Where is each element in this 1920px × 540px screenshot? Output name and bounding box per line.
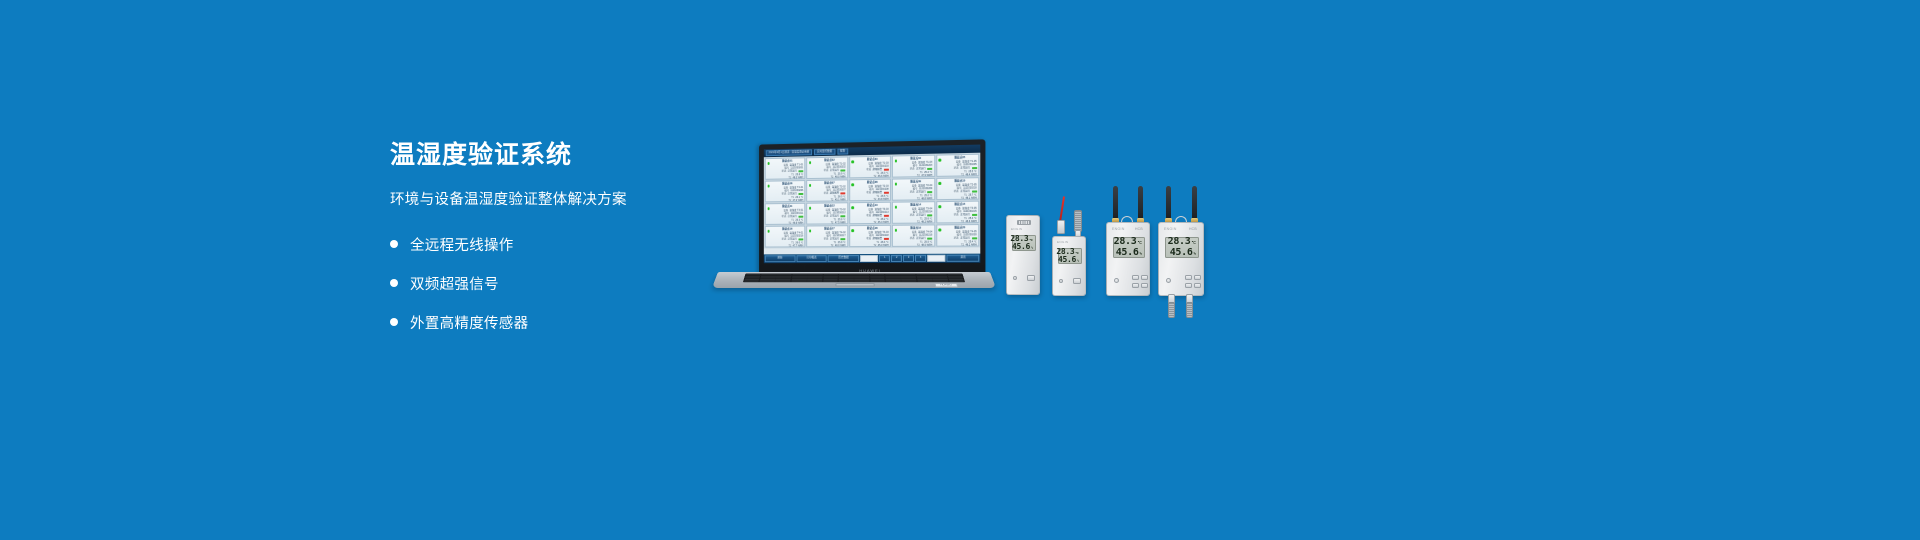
monitor-card-field-label: 状态: [782, 170, 787, 173]
status-dot-icon: [938, 182, 941, 185]
laptop-keyboard[interactable]: [743, 274, 965, 283]
monitor-card[interactable]: 验证点15设备温湿度 T3-05编号1121030215状态正常运行T125.3…: [936, 201, 979, 224]
monitor-card-field-label: 状态: [782, 238, 787, 241]
monitor-card[interactable]: 验证点20设备温湿度 T4-05编号1121030220状态正常运行T125.4…: [936, 224, 979, 247]
monitor-card-field-label: 状态: [782, 193, 787, 196]
device-group-external-probe: ENGIN 28.3 ℃ 45.6 %: [1052, 196, 1098, 296]
key[interactable]: [854, 281, 869, 282]
product-banner: 温湿度验证系统 环境与设备温湿度验证整体解决方案 全远程无线操作 双频超强信号 …: [0, 0, 1920, 540]
key[interactable]: [744, 281, 759, 282]
monitor-card[interactable]: 验证点06设备温湿度 T2-01编号1121030206状态正常运行T126.1…: [765, 180, 806, 202]
device-group-wireless-probe: ENGIN HCB 28.3 ℃ 45.6 %: [1158, 186, 1218, 318]
page-title: 温湿度验证系统: [390, 140, 720, 170]
device-lcd-display: 28.3 ℃ 45.6 %: [1012, 235, 1036, 251]
device-lcd-display: 28.3 ℃ 45.6 %: [1165, 237, 1199, 258]
bullet-dot-icon: [390, 240, 398, 248]
key[interactable]: [886, 281, 901, 282]
device-lcd-display: 28.3 ℃ 45.6 %: [1058, 248, 1082, 264]
monitor-card-field-label: 状态: [954, 237, 959, 240]
monitor-card[interactable]: 验证点18设备温湿度 T4-03编号1121030218状态超限报警T128.4…: [849, 225, 891, 247]
monitor-card-field-label: 状态: [954, 167, 959, 170]
toolbar-button[interactable]: 历史数据: [828, 255, 859, 262]
feature-item-1: 全远程无线操作: [390, 231, 720, 257]
device-brand-label: ENGIN: [1112, 228, 1125, 231]
lcd-temperature-value: 28.3: [1168, 237, 1191, 248]
device-button-up[interactable]: [1185, 275, 1192, 280]
probe-cable: [1059, 196, 1065, 222]
device-model-label: HCB: [1135, 228, 1143, 231]
laptop-screen: 2021年9月1日通道 - 温湿度验证系统 实时监控数据 报警 验证点01设备温…: [764, 145, 980, 264]
toolbar-button[interactable]: 退出: [947, 255, 979, 262]
feature-item-2: 双频超强信号: [390, 270, 720, 296]
toolbar-button[interactable]: 4: [915, 255, 926, 262]
device-power-button[interactable]: [1059, 279, 1063, 283]
device-button-enter[interactable]: [1141, 283, 1148, 288]
monitor-card[interactable]: 验证点16设备温湿度 T4-01编号1121030216状态正常运行T126.0…: [765, 226, 806, 248]
bullet-dot-icon: [390, 318, 398, 326]
key[interactable]: [902, 281, 917, 282]
lcd-temperature-value: 28.3: [1114, 237, 1137, 248]
device-button-up[interactable]: [1132, 275, 1139, 280]
monitor-card-field-label: 状态: [954, 190, 959, 193]
laptop-lid: 2021年9月1日通道 - 温湿度验证系统 实时监控数据 报警 验证点01设备温…: [759, 139, 985, 274]
monitor-card-field-label: 状态: [910, 214, 915, 217]
monitor-card[interactable]: 验证点13设备温湿度 T3-03编号1121030213状态超限报警T128.2…: [849, 202, 891, 224]
status-dot-icon: [895, 229, 898, 232]
key[interactable]: [933, 281, 948, 282]
status-dot-icon: [767, 207, 769, 210]
feature-label: 外置高精度传感器: [410, 312, 528, 333]
toolbar-button[interactable]: 2: [891, 255, 902, 262]
antenna-left-icon: [1113, 186, 1118, 220]
page-subtitle: 环境与设备温湿度验证整体解决方案: [390, 188, 720, 209]
probe-connector: [1057, 220, 1065, 234]
monitor-card[interactable]: 验证点04设备温湿度 T1-04编号1121030204状态正常运行T125.4…: [892, 155, 935, 178]
feature-label: 双频超强信号: [410, 273, 499, 294]
topbar-tab-0[interactable]: 2021年9月1日通道 - 温湿度验证系统: [766, 149, 812, 156]
monitor-card[interactable]: 验证点08设备温湿度 T2-03编号1121030208状态超限报警T128.6…: [849, 179, 891, 202]
topbar-tab-1[interactable]: 实时监控数据: [814, 149, 835, 155]
lcd-humidity-value: 45.6: [1058, 256, 1076, 264]
laptop-brand-badge: HUAWEI: [934, 283, 958, 287]
hero-text-block: 温湿度验证系统 环境与设备温湿度验证整体解决方案 全远程无线操作 双频超强信号 …: [390, 140, 720, 348]
status-dot-icon: [895, 206, 898, 209]
monitor-card[interactable]: 验证点07设备温湿度 T2-02编号1121030207状态超限报警T128.0…: [807, 179, 848, 201]
monitor-card[interactable]: 验证点01设备温湿度 T1-01编号1121030201状态正常运行T125.8…: [765, 157, 806, 179]
device-data-logger-basic: ENGIN 28.3 ℃ 45.6 %: [1006, 215, 1040, 295]
lcd-humidity-unit: %: [1140, 252, 1142, 256]
keyboard-row: [744, 281, 965, 282]
monitor-card[interactable]: 验证点17设备温湿度 T4-02编号1121030217状态正常运行T125.8…: [807, 225, 848, 247]
status-dot-icon: [809, 229, 812, 232]
status-dot-icon: [851, 183, 854, 186]
laptop-base: HUAWEI: [718, 272, 990, 297]
monitor-card[interactable]: 验证点10设备温湿度 T2-05编号1121030210状态正常运行T125.7…: [936, 177, 979, 200]
device-brand-label: ENGIN: [1164, 228, 1177, 231]
device-button-set[interactable]: [1132, 283, 1139, 288]
bullet-dot-icon: [390, 279, 398, 287]
laptop-deck: HUAWEI: [712, 272, 996, 288]
lcd-humidity-value: 45.6: [1012, 243, 1030, 251]
device-power-button[interactable]: [1114, 278, 1119, 283]
monitor-card-field-label: 状态: [824, 169, 829, 172]
monitor-card[interactable]: 验证点14设备温湿度 T3-04编号1121030214状态正常运行T125.6…: [892, 201, 935, 224]
status-dot-icon: [851, 229, 854, 232]
status-dot-icon: [938, 228, 941, 231]
monitor-card-field-label: 状态: [954, 213, 959, 216]
lcd-humidity-unit: %: [1194, 252, 1196, 256]
key[interactable]: [823, 281, 838, 282]
monitor-card-grid: 验证点01设备温湿度 T1-01编号1121030201状态正常运行T125.8…: [764, 153, 980, 249]
feature-list: 全远程无线操作 双频超强信号 外置高精度传感器: [390, 231, 720, 335]
toolbar-button[interactable]: 刷新: [765, 255, 795, 262]
toolbar-button[interactable]: 3: [903, 255, 914, 262]
key[interactable]: [791, 281, 806, 282]
lcd-temperature-unit: ℃: [1138, 241, 1143, 245]
sensor-vent-icon: [1017, 220, 1031, 225]
lcd-humidity-line: 45.6 %: [1116, 248, 1142, 259]
status-dot-icon: [767, 185, 769, 188]
toolbar-button[interactable]: 1: [879, 255, 890, 262]
status-dot-icon: [809, 184, 812, 187]
monitor-card-field-label: 状态: [824, 215, 829, 218]
lcd-humidity-line: 45.6 %: [1061, 256, 1079, 264]
probe-sensor-tip-left: [1168, 302, 1175, 318]
antenna-right-icon: [1192, 186, 1197, 220]
device-power-button[interactable]: [1166, 278, 1171, 283]
device-button-down[interactable]: [1141, 275, 1148, 280]
monitor-card[interactable]: 验证点02设备温湿度 T1-02编号1121030202状态正常运行T125.9…: [807, 156, 848, 179]
status-dot-icon: [767, 230, 769, 233]
monitor-card-field-label: 状态: [824, 238, 829, 241]
key[interactable]: [759, 281, 774, 282]
device-power-button[interactable]: [1013, 276, 1017, 280]
toolbar-spacer: [860, 255, 878, 262]
lcd-humidity-value: 45.6: [1116, 248, 1139, 259]
monitor-card[interactable]: 验证点09设备温湿度 T2-04编号1121030209状态正常运行T125.2…: [892, 178, 935, 201]
feature-label: 全远程无线操作: [410, 234, 514, 255]
probe-sensor-tip: [1074, 210, 1082, 232]
device-brand-label: ENGIN: [1057, 241, 1069, 244]
monitor-card[interactable]: 验证点03设备温湿度 T1-03编号1121030203状态超限报警T128.3…: [849, 156, 891, 179]
lcd-temperature-line: 28.3 ℃: [1168, 237, 1196, 248]
monitor-card[interactable]: 验证点19设备温湿度 T4-04编号1121030219状态正常运行T125.5…: [892, 224, 935, 246]
toolbar-button[interactable]: 打印报表: [796, 255, 827, 262]
device-wireless-logger-probe-body: ENGIN HCB 28.3 ℃ 45.6 %: [1158, 222, 1204, 296]
lcd-temperature-unit: ℃: [1192, 241, 1197, 245]
status-dot-icon: [809, 161, 812, 164]
device-function-button[interactable]: [1027, 275, 1035, 281]
monitor-card-field-label: 状态: [866, 168, 871, 171]
monitor-card-field-label: 状态: [866, 191, 871, 194]
status-dot-icon: [895, 183, 898, 186]
laptop-product-image: 2021年9月1日通道 - 温湿度验证系统 实时监控数据 报警 验证点01设备温…: [718, 142, 990, 297]
device-wireless-logger-body: ENGIN HCB 28.3 ℃ 45.6 %: [1106, 222, 1150, 296]
key[interactable]: [949, 281, 965, 282]
probe-sensor-tip-right: [1186, 302, 1193, 318]
toolbar-spacer: [927, 255, 946, 262]
monitor-card-field-label: 状态: [866, 237, 871, 240]
monitor-card-field-label: 状态: [910, 191, 915, 194]
feature-item-3: 外置高精度传感器: [390, 309, 720, 335]
monitor-card-field-label: 状态: [910, 237, 915, 240]
monitor-card[interactable]: 验证点12设备温湿度 T3-02编号1121030212状态正常运行T125.9…: [807, 202, 848, 224]
status-dot-icon: [851, 160, 854, 163]
lcd-humidity-unit: %: [1031, 247, 1033, 250]
monitor-card[interactable]: 验证点05设备温湿度 T1-05编号1121030205状态正常运行T125.5…: [936, 154, 979, 177]
key[interactable]: [917, 281, 932, 282]
antenna-left-icon: [1166, 186, 1171, 220]
key[interactable]: [838, 281, 853, 282]
device-function-button[interactable]: [1073, 278, 1081, 284]
device-model-label: HCB: [1189, 228, 1197, 231]
lcd-humidity-unit: %: [1077, 260, 1079, 263]
status-dot-icon: [895, 159, 898, 162]
device-button-down[interactable]: [1194, 275, 1201, 280]
lcd-humidity-line: 45.6 %: [1168, 248, 1196, 259]
status-dot-icon: [938, 159, 941, 162]
key[interactable]: [870, 281, 885, 282]
lcd-humidity-value: 45.6: [1170, 248, 1193, 259]
key[interactable]: [807, 281, 822, 282]
device-lcd-display: 28.3 ℃ 45.6 %: [1113, 237, 1145, 258]
lcd-temperature-line: 28.3 ℃: [1116, 237, 1142, 248]
device-data-logger-probe-body: ENGIN 28.3 ℃ 45.6 %: [1052, 236, 1086, 296]
topbar-tab-2[interactable]: 报警: [837, 149, 848, 155]
status-dot-icon: [809, 207, 812, 210]
antenna-right-icon: [1138, 186, 1143, 220]
laptop-trackpad[interactable]: [835, 283, 875, 286]
status-dot-icon: [767, 162, 769, 165]
dashboard-bottombar: 刷新打印报表历史数据1234退出: [764, 254, 980, 264]
status-dot-icon: [938, 205, 941, 208]
monitor-card-field-label: 状态: [910, 167, 915, 170]
device-button-enter[interactable]: [1194, 283, 1201, 288]
device-brand-label: ENGIN: [1011, 228, 1023, 231]
monitor-card-field-label: 状态: [866, 214, 871, 217]
lcd-humidity-line: 45.6 %: [1015, 243, 1033, 251]
status-dot-icon: [851, 206, 854, 209]
monitor-card[interactable]: 验证点11设备温湿度 T3-01编号1121030211状态正常运行T126.3…: [765, 203, 806, 225]
device-group-wireless-dual-antenna: ENGIN HCB 28.3 ℃ 45.6 %: [1106, 186, 1158, 296]
device-button-set[interactable]: [1185, 283, 1192, 288]
key[interactable]: [775, 281, 790, 282]
monitor-card-field-label: 状态: [824, 192, 829, 195]
monitor-card-field-label: 状态: [782, 215, 787, 218]
